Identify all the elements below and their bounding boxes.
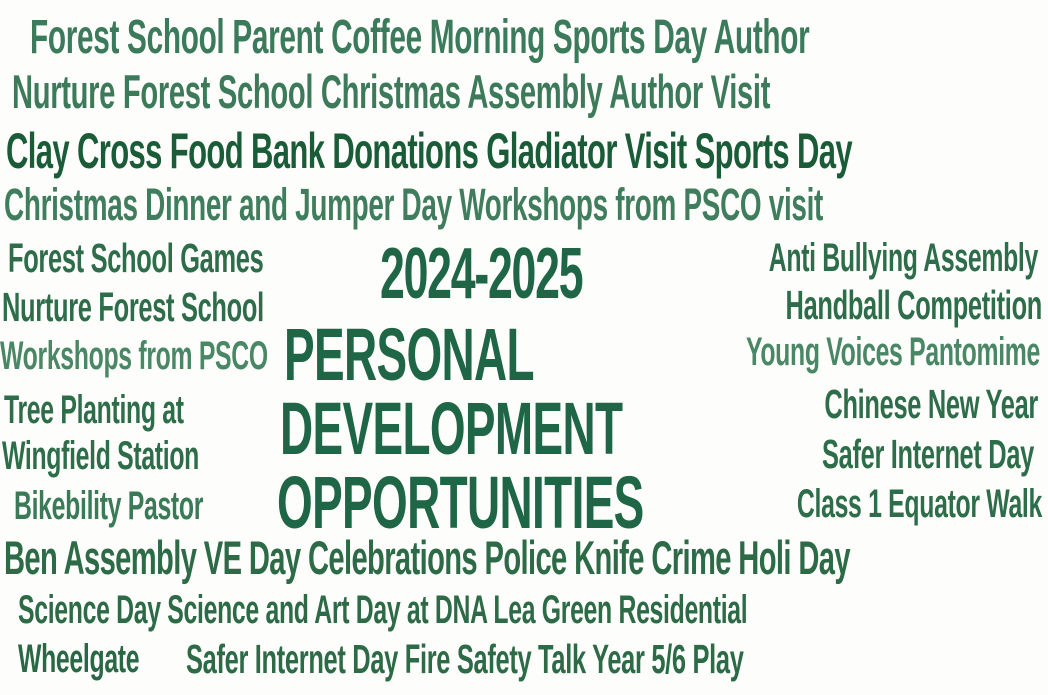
cloud-word-left-4: Tree Planting at xyxy=(4,390,326,430)
cloud-word-row14-wheelgate: Wheelgate xyxy=(18,639,179,679)
cloud-word-row3: Clay Cross Food Bank Donations Gladiator… xyxy=(6,126,1048,176)
cloud-word-row12: Ben Assembly VE Day Celebrations Police … xyxy=(4,534,1048,581)
cloud-word-left-1: Forest School Games xyxy=(8,238,355,279)
cloud-word-right-1: Anti Bullying Assembly xyxy=(654,238,1038,278)
cloud-word-right-3: Young Voices Pantomime xyxy=(631,332,1040,372)
cloud-word-row4: Christmas Dinner and Jumper Day Workshop… xyxy=(4,182,1048,227)
cloud-word-right-5: Safer Internet Day xyxy=(712,434,1034,475)
cloud-word-row14-rest: Safer Internet Day Fire Safety Talk Year… xyxy=(186,639,918,680)
cloud-word-right-4: Chinese New Year xyxy=(716,384,1038,425)
cloud-word-right-6: Class 1 Equator Walk xyxy=(682,484,1042,524)
cloud-word-row13: Science Day Science and Art Day at DNA L… xyxy=(18,590,948,630)
cloud-word-row2: Nurture Forest School Christmas Assembly… xyxy=(12,68,1016,115)
cloud-word-row1: Forest School Parent Coffee Morning Spor… xyxy=(30,14,1034,62)
cloud-word-right-2: Handball Competition xyxy=(645,285,1042,326)
word-cloud-canvas: Forest School Parent Coffee Morning Spor… xyxy=(0,0,1048,695)
